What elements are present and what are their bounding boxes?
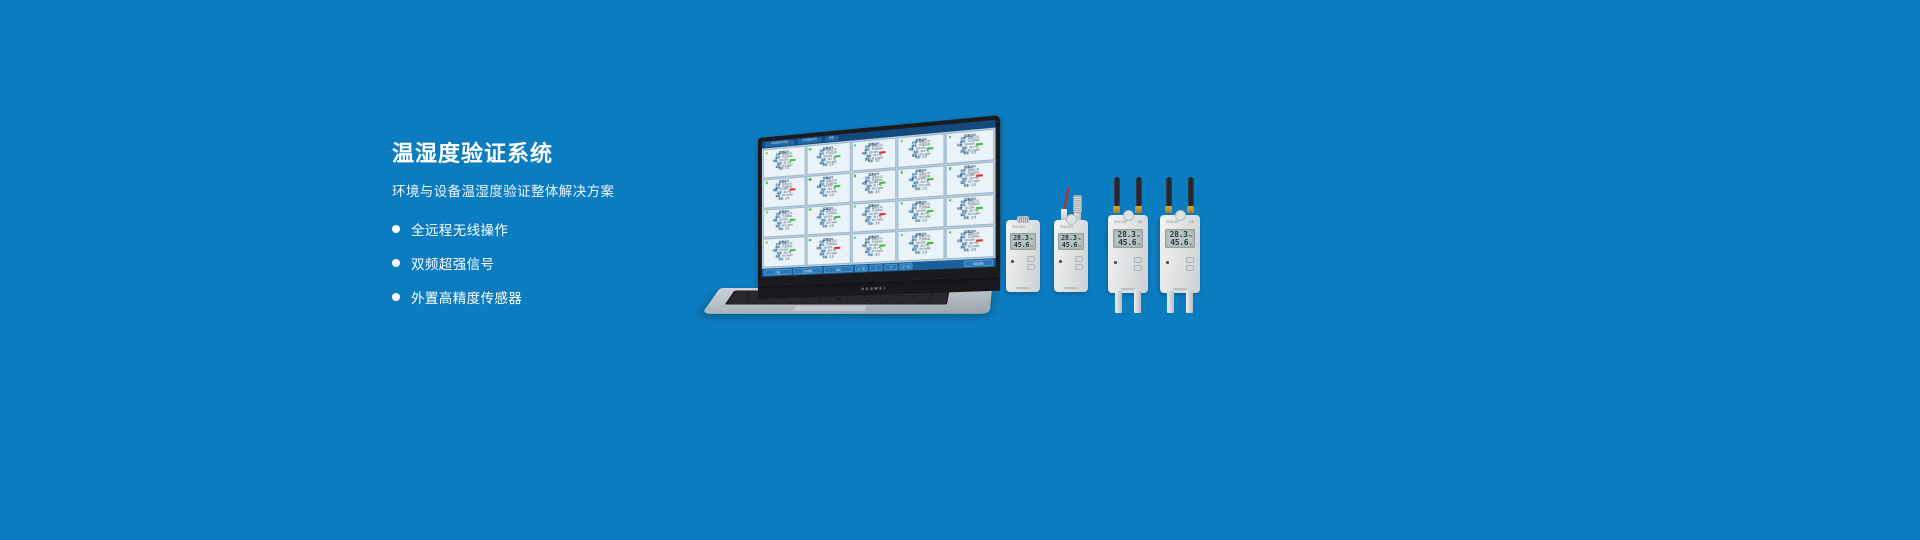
- device-buttons: [1075, 256, 1083, 270]
- monitoring-card[interactable]: 监测点01名称:监测点-01编号:TC000001电量:100.00%温度:28…: [946, 161, 995, 196]
- hero-banner: 温湿度验证系统 环境与设备温湿度验证整体解决方案 全远程无线操作 双频超强信号 …: [0, 0, 1920, 540]
- antenna-base-left: [1113, 206, 1120, 213]
- export-button[interactable]: 导出: [824, 266, 853, 273]
- device-foot: [1064, 287, 1078, 289]
- device-button-up[interactable]: [1186, 257, 1194, 263]
- monitoring-card[interactable]: 监测点01名称:监测点-01编号:TC000001电量:100.00%温度:28…: [763, 237, 806, 268]
- lcd-humidity-unit: %: [1137, 242, 1140, 246]
- lcd-humidity-line: 45.6 %: [1013, 242, 1033, 249]
- lcd-humidity-line: 45.6 %: [1116, 239, 1140, 247]
- antenna-base-right: [1187, 206, 1194, 213]
- card-row-key: 状态:: [868, 223, 874, 226]
- lcd-display: 28.3 ℃ 45.6 %: [1010, 233, 1036, 250]
- list-item: 全远程无线操作: [392, 219, 722, 239]
- status-bar-ok: [789, 249, 795, 251]
- card-row-key: 状态:: [778, 168, 783, 171]
- status-led-icon: [901, 171, 904, 174]
- monitoring-card[interactable]: 监测点01名称:监测点-01编号:TC000001电量:100.00%温度:28…: [806, 142, 850, 175]
- device-button-down[interactable]: [1186, 265, 1194, 271]
- feature-label: 外置高精度传感器: [411, 287, 522, 307]
- device-brand-row: ENCON: [1006, 225, 1040, 229]
- lcd-temperature-unit: ℃: [1078, 237, 1081, 241]
- lcd-temperature-unit: ℃: [1189, 234, 1192, 238]
- status-bar-ok: [834, 185, 840, 187]
- status-bar-ok: [880, 182, 886, 184]
- keyboard-row: [727, 302, 946, 304]
- monitoring-card[interactable]: 监测点01名称:监测点-01编号:TC000001电量:100.00%温度:28…: [898, 165, 945, 199]
- status-bar-ok: [927, 210, 934, 212]
- status-led-icon: [949, 135, 952, 138]
- hero-text-block: 温湿度验证系统 环境与设备温湿度验证整体解决方案 全远程无线操作 双频超强信号 …: [392, 141, 722, 321]
- monitoring-card[interactable]: 监测点01名称:监测点-01编号:TC000001电量:100.00%温度:28…: [946, 226, 995, 260]
- lcd-temperature-unit: ℃: [1030, 237, 1033, 241]
- bullet-dot-icon: [392, 259, 400, 267]
- lcd-humidity-value: 45.6: [1062, 242, 1078, 249]
- card-row: 状态:正常: [854, 253, 893, 258]
- ir-sensor-icon: [1011, 260, 1014, 263]
- card-row-key: 状态:: [822, 226, 827, 229]
- probe-wire: [1063, 187, 1070, 211]
- card-row-value: 正常: [922, 156, 927, 160]
- list-item: 双频超强信号: [392, 253, 722, 273]
- card-row-value: 正常: [875, 191, 880, 194]
- lcd-humidity-value: 45.6: [1118, 239, 1136, 247]
- lcd-humidity-value: 45.6: [1014, 242, 1030, 249]
- device-foot: [1173, 288, 1187, 290]
- device-brand-row: ENCON H8: [1160, 220, 1200, 224]
- lcd-humidity-line: 45.6 %: [1061, 242, 1081, 249]
- status-bar-alarm: [880, 213, 886, 215]
- card-row: 状态:正常: [809, 255, 847, 260]
- device-brand-right: H8: [1189, 220, 1194, 224]
- probe-right: [1186, 291, 1193, 313]
- status-bar-alarm: [789, 189, 795, 191]
- lcd-humidity-unit: %: [1078, 244, 1081, 248]
- monitoring-card[interactable]: 监测点01名称:监测点-01编号:TC000001电量:100.00%温度:28…: [806, 172, 850, 205]
- antenna-right-icon: [1136, 177, 1142, 207]
- status-bar-ok: [976, 142, 983, 145]
- laptop-illustration: HUAWEI 温湿度验证系统 历史数据查询 帮助 监测点01名称:监测点-01编…: [720, 138, 992, 298]
- start-button[interactable]: 开始: [764, 268, 792, 275]
- data-logger-wireless-1: ENCON H8 28.3 ℃ 45.6 %: [1108, 215, 1148, 293]
- card-row-key: 状态:: [964, 153, 970, 157]
- monitoring-card[interactable]: 监测点01名称:监测点-01编号:TC000001电量:100.00%温度:28…: [898, 229, 945, 262]
- status-bar-alarm: [834, 247, 840, 249]
- device-brand-row: ENCON: [1054, 225, 1088, 229]
- feature-label: 双频超强信号: [411, 253, 494, 273]
- card-row-key: 状态:: [778, 228, 783, 231]
- card-row-value: 正常: [785, 198, 790, 201]
- card-row-value: 正常: [829, 195, 834, 198]
- card-row: 状态:正常: [901, 251, 941, 256]
- card-row: 状态:正常: [949, 248, 991, 253]
- lcd-humidity-line: 45.6 %: [1168, 239, 1192, 247]
- card-row-value: 正常: [875, 254, 880, 257]
- card-row-value: 正常: [829, 256, 834, 259]
- card-row-key: 状态:: [868, 192, 874, 195]
- card-row-value: 正常: [922, 188, 927, 191]
- card-row-key: 状态:: [822, 165, 827, 168]
- device-brand-right: H8: [1137, 220, 1142, 224]
- monitoring-card[interactable]: 监测点01名称:监测点-01编号:TC000001电量:100.00%温度:28…: [806, 203, 850, 235]
- laptop-brand-label: HUAWEI: [861, 286, 886, 291]
- list-item: 外置高精度传感器: [392, 287, 722, 307]
- prev-page-button[interactable]: 上一页: [855, 265, 868, 272]
- monitoring-card[interactable]: 监测点01名称:监测点-01编号:TC000001电量:100.00%温度:28…: [946, 193, 995, 227]
- lcd-humidity-unit: %: [1189, 242, 1192, 246]
- data-logger-probe: ENCON 28.3 ℃ 45.6 %: [1054, 220, 1088, 292]
- status-led-icon: [809, 148, 811, 151]
- lcd-display: 28.3 ℃ 45.6 %: [1058, 233, 1084, 250]
- card-row-value: 正常: [829, 164, 834, 167]
- monitoring-card[interactable]: 监测点01名称:监测点-01编号:TC000001电量:100.00%温度:28…: [806, 234, 850, 266]
- card-row: 状态:正常: [766, 258, 803, 263]
- status-bar-ok: [927, 242, 934, 244]
- device-buttons: [1134, 257, 1142, 271]
- card-row-key: 状态:: [964, 217, 970, 220]
- antenna-base-right: [1135, 206, 1142, 213]
- status-bar-alarm: [976, 239, 983, 241]
- device-buttons: [1186, 257, 1194, 271]
- device-button-up[interactable]: [1075, 256, 1083, 262]
- card-row-key: 状态:: [822, 256, 827, 259]
- lcd-humidity-value: 45.6: [1170, 239, 1188, 247]
- card-row-value: 正常: [971, 249, 976, 252]
- probe-right: [1134, 291, 1141, 313]
- antenna-base-left: [1165, 206, 1172, 213]
- hanger-clip: [1017, 216, 1029, 223]
- laptop-trackpad: [792, 305, 868, 311]
- status-bar-ok: [927, 178, 934, 180]
- device-group: ENCON 28.3 ℃ 45.6 %: [1000, 185, 1230, 310]
- lcd-humidity-unit: %: [1030, 244, 1033, 248]
- status-led-icon: [949, 167, 952, 170]
- page-2-button[interactable]: 2: [885, 264, 898, 271]
- exit-button[interactable]: 退出系统: [964, 259, 994, 267]
- device-button-up[interactable]: [1027, 256, 1035, 262]
- card-row-key: 状态:: [822, 195, 827, 198]
- device-brand-left: ENCON: [1166, 220, 1179, 224]
- probe-left: [1167, 291, 1174, 313]
- device-brand-row: ENCON H8: [1108, 220, 1148, 224]
- card-row-key: 状态:: [964, 249, 970, 252]
- status-bar-ok: [976, 207, 983, 209]
- status-led-icon: [809, 178, 811, 181]
- card-row-value: 正常: [829, 225, 834, 228]
- status-led-icon: [765, 152, 767, 155]
- card-row-key: 状态:: [868, 161, 874, 164]
- card-row-value: 正常: [785, 228, 790, 231]
- antenna-right-icon: [1188, 177, 1194, 207]
- card-row-value: 正常: [971, 217, 976, 220]
- laptop-lid: 温湿度验证系统 历史数据查询 帮助 监测点01名称:监测点-01编号:TC000…: [758, 115, 1000, 286]
- monitoring-card[interactable]: 监测点01名称:监测点-01编号:TC000001电量:100.00%温度:28…: [946, 129, 995, 164]
- status-bar-alarm: [976, 175, 983, 177]
- probe-mesh-sensor: [1073, 195, 1082, 213]
- monitoring-card[interactable]: 监测点01名称:监测点-01编号:TC000001电量:100.00%温度:28…: [851, 169, 896, 202]
- monitoring-grid: 监测点01名称:监测点-01编号:TC000001电量:100.00%温度:28…: [762, 128, 996, 269]
- card-row-key: 状态:: [778, 258, 783, 261]
- status-bar-ok: [789, 219, 795, 221]
- feature-label: 全远程无线操作: [411, 219, 508, 239]
- card-row-key: 状态:: [778, 198, 783, 201]
- bullet-dot-icon: [392, 293, 400, 301]
- antenna-left-icon: [1166, 177, 1172, 207]
- device-button-down[interactable]: [1075, 264, 1083, 270]
- device-button-down[interactable]: [1134, 265, 1142, 271]
- card-row-value: 正常: [875, 223, 880, 226]
- ir-sensor-icon: [1114, 261, 1117, 264]
- next-page-button[interactable]: 下一页: [900, 263, 913, 270]
- status-led-icon: [809, 239, 811, 242]
- antenna-left-icon: [1114, 177, 1120, 207]
- status-led-icon: [765, 241, 767, 244]
- card-row-key: 状态:: [964, 185, 970, 189]
- card-row-value: 正常: [971, 185, 976, 189]
- lcd-display: 28.3 ℃ 45.6 %: [1165, 229, 1195, 248]
- monitoring-card[interactable]: 监测点01名称:监测点-01编号:TC000001电量:100.00%温度:28…: [898, 197, 945, 230]
- lcd-temperature-unit: ℃: [1137, 234, 1140, 238]
- status-led-icon: [765, 181, 767, 184]
- device-brand-left: ENCON: [1012, 225, 1025, 229]
- card-row-key: 状态:: [915, 252, 921, 255]
- card-row-key: 状态:: [915, 157, 921, 161]
- card-row-value: 正常: [875, 160, 880, 163]
- monitoring-card[interactable]: 监测点01名称:监测点-01编号:TC000001电量:100.00%温度:28…: [851, 200, 896, 233]
- monitoring-card[interactable]: 监测点01名称:监测点-01编号:TC000001电量:100.00%温度:28…: [851, 231, 896, 263]
- monitoring-card[interactable]: 监测点01名称:监测点-01编号:TC000001电量:100.00%温度:28…: [763, 176, 806, 208]
- device-buttons: [1027, 256, 1035, 270]
- card-row-value: 正常: [971, 152, 976, 156]
- laptop-screen: 温湿度验证系统 历史数据查询 帮助 监测点01名称:监测点-01编号:TC000…: [762, 120, 996, 277]
- ir-sensor-icon: [1166, 261, 1169, 264]
- card-row-value: 正常: [785, 168, 790, 171]
- status-bar-ok: [834, 216, 840, 218]
- feature-list: 全远程无线操作 双频超强信号 外置高精度传感器: [392, 219, 722, 307]
- status-bar-ok: [880, 244, 886, 246]
- card-row-key: 状态:: [915, 189, 921, 192]
- hero-subtitle: 环境与设备温湿度验证整体解决方案: [392, 183, 722, 201]
- probe-left: [1115, 291, 1122, 313]
- card-row-key: 状态:: [915, 220, 921, 223]
- card-row-value: 正常: [922, 220, 927, 223]
- card-row-value: 正常: [785, 258, 790, 261]
- card-row-key: 状态:: [868, 254, 874, 257]
- device-button-down[interactable]: [1027, 264, 1035, 270]
- page-1-button[interactable]: 1: [870, 264, 883, 271]
- page-title: 温湿度验证系统: [392, 141, 722, 167]
- lcd-display: 28.3 ℃ 45.6 %: [1113, 229, 1143, 248]
- device-foot: [1121, 288, 1135, 290]
- record-data-button[interactable]: 记录数据: [794, 267, 822, 274]
- device-brand-left: ENCON: [1114, 220, 1127, 224]
- bullet-dot-icon: [392, 225, 400, 233]
- monitoring-card[interactable]: 监测点01名称:监测点-01编号:TC000001电量:100.00%温度:28…: [763, 146, 806, 179]
- monitoring-card[interactable]: 监测点01名称:监测点-01编号:TC000001电量:100.00%温度:28…: [898, 133, 945, 167]
- monitoring-card[interactable]: 监测点01名称:监测点-01编号:TC000001电量:100.00%温度:28…: [851, 138, 896, 172]
- card-row-value: 正常: [922, 251, 927, 254]
- ir-sensor-icon: [1059, 260, 1062, 263]
- device-button-up[interactable]: [1134, 257, 1142, 263]
- monitoring-card[interactable]: 监测点01名称:监测点-01编号:TC000001电量:100.00%温度:28…: [763, 206, 806, 238]
- data-logger-wireless-2: ENCON H8 28.3 ℃ 45.6 %: [1160, 215, 1200, 293]
- device-foot: [1016, 287, 1030, 289]
- device-brand-left: ENCON: [1060, 225, 1073, 229]
- hanger-ring: [1066, 214, 1077, 225]
- data-logger-compact: ENCON 28.3 ℃ 45.6 %: [1006, 220, 1040, 292]
